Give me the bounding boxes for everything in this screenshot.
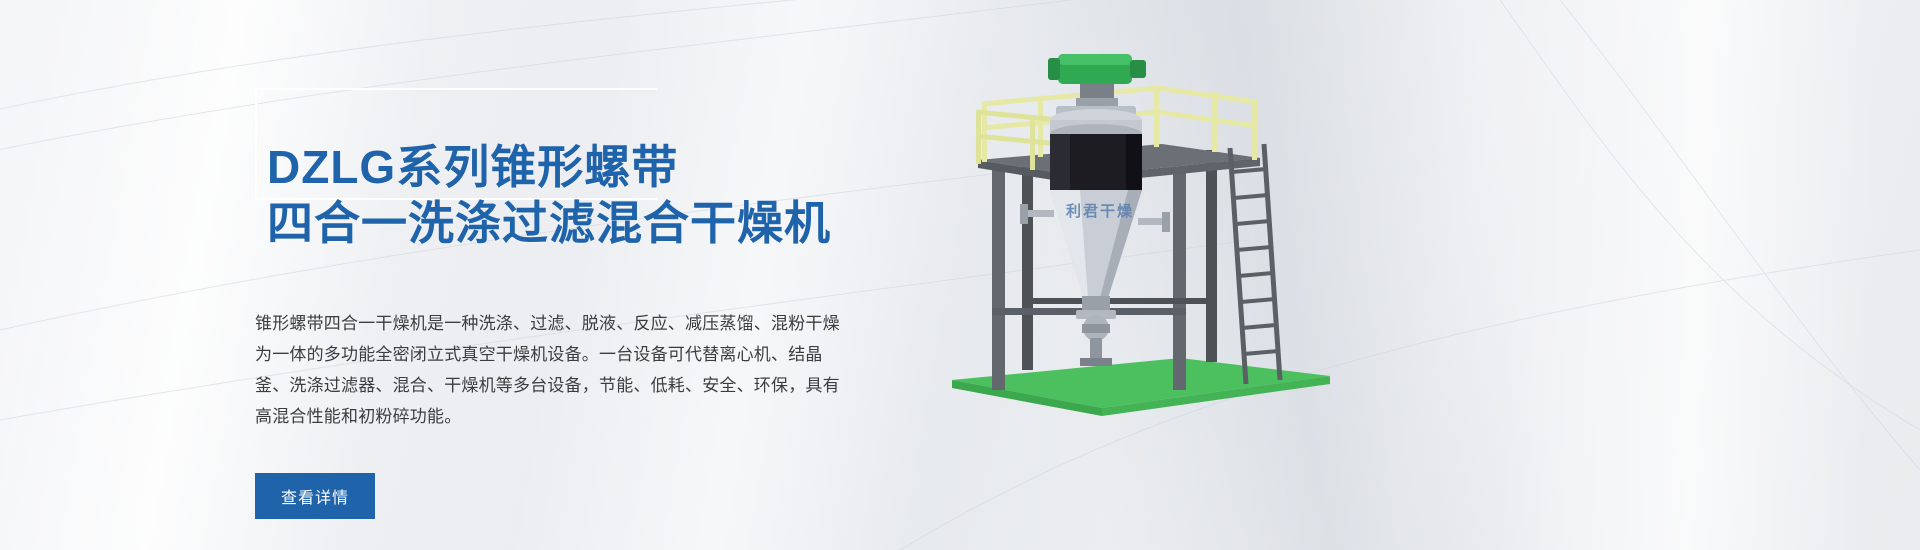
product-description: 锥形螺带四合一干燥机是一种洗涤、过滤、脱液、反应、减压蒸馏、混粉干燥为一体的多功… bbox=[255, 308, 855, 432]
title-wrapper: DZLG系列锥形螺带 四合一洗涤过滤混合干燥机 bbox=[255, 88, 895, 288]
title-line-1: DZLG系列锥形螺带 bbox=[267, 139, 895, 195]
page-title: DZLG系列锥形螺带 四合一洗涤过滤混合干燥机 bbox=[267, 139, 895, 251]
title-line-2: 四合一洗涤过滤混合干燥机 bbox=[267, 195, 895, 251]
view-details-button[interactable]: 查看详情 bbox=[255, 473, 375, 519]
conical-screw-dryer-icon bbox=[930, 40, 1350, 440]
product-illustration: 利君干燥 bbox=[930, 40, 1350, 440]
banner-content: DZLG系列锥形螺带 四合一洗涤过滤混合干燥机 锥形螺带四合一干燥机是一种洗涤、… bbox=[255, 88, 895, 519]
hero-banner: DZLG系列锥形螺带 四合一洗涤过滤混合干燥机 锥形螺带四合一干燥机是一种洗涤、… bbox=[0, 0, 1920, 550]
